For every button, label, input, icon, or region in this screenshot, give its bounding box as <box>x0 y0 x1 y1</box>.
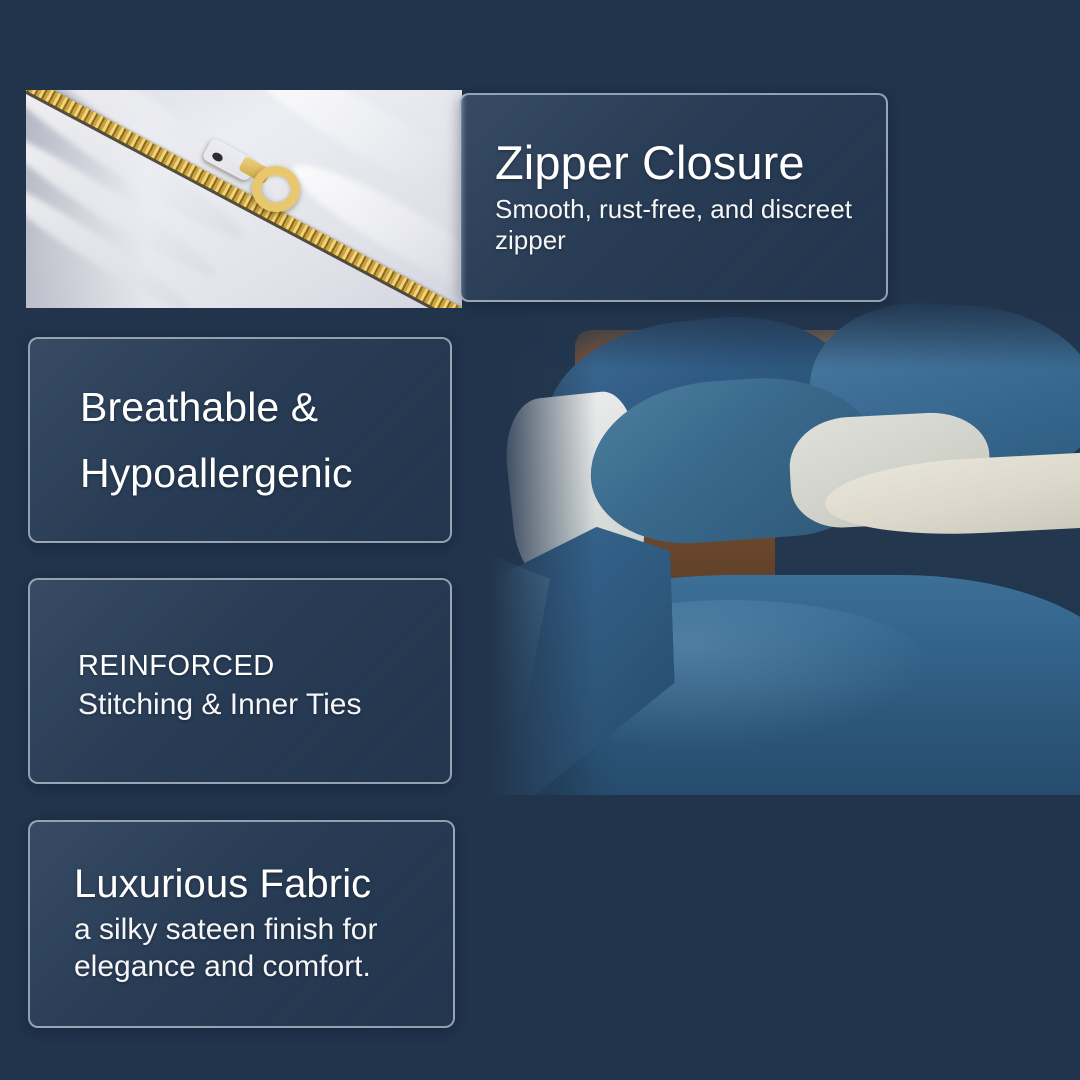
feature-subtitle-zipper-closure: Smooth, rust-free, and discreet zipper <box>495 194 852 257</box>
feature-subtitle-luxurious-line2: elegance and comfort. <box>74 949 409 986</box>
product-feature-infographic: Zipper Closure Smooth, rust-free, and di… <box>0 0 1080 1080</box>
feature-subtitle-luxurious-line1: a silky sateen finish for <box>74 912 409 949</box>
feature-title-luxurious-fabric: Luxurious Fabric <box>74 863 409 906</box>
feature-card-breathable-hypoallergenic[interactable]: Breathable & Hypoallergenic <box>28 337 452 543</box>
feature-card-zipper-closure[interactable]: Zipper Closure Smooth, rust-free, and di… <box>459 93 888 302</box>
feature-title-breathable-line1: Breathable & <box>80 374 400 440</box>
feature-subtitle-reinforced: Stitching & Inner Ties <box>78 687 402 724</box>
feature-title-reinforced: Reinforced <box>78 639 402 683</box>
styled-bed-photo <box>490 300 1080 795</box>
zipper-closeup-photo <box>26 90 462 308</box>
feature-card-luxurious-fabric[interactable]: Luxurious Fabric a silky sateen finish f… <box>28 820 455 1028</box>
feature-title-breathable-line2: Hypoallergenic <box>80 440 400 506</box>
feature-card-reinforced-stitching[interactable]: Reinforced Stitching & Inner Ties <box>28 578 452 784</box>
feature-title-zipper-closure: Zipper Closure <box>495 138 852 189</box>
